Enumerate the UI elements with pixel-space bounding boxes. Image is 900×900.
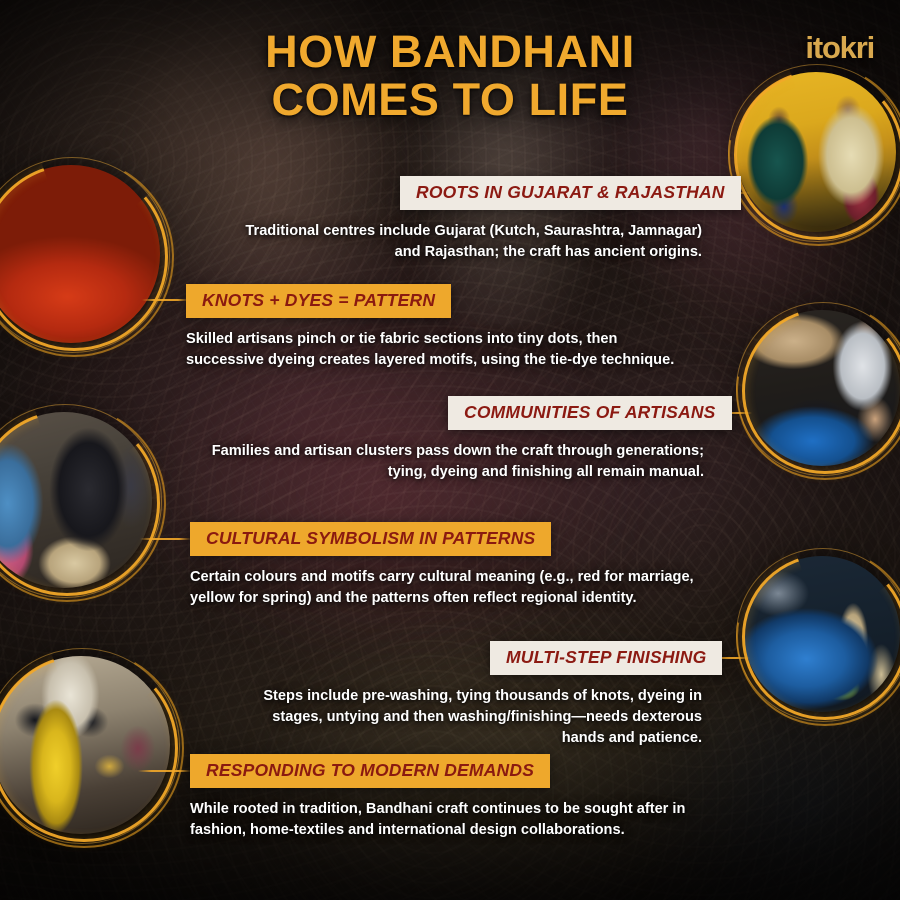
connector-line-6 xyxy=(138,770,192,772)
photo-women-tying-yellow-image xyxy=(736,72,896,232)
section-modern-demands-body: While rooted in tradition, Bandhani craf… xyxy=(190,799,690,841)
section-multi-step-finishing: MULTI-STEP FINISHING Steps include pre-w… xyxy=(490,641,702,749)
section-knots-dyes-heading: KNOTS + DYES = PATTERN xyxy=(186,284,451,318)
section-communities-heading: COMMUNITIES OF ARTISANS xyxy=(448,396,732,430)
connector-line-4 xyxy=(140,538,192,540)
section-roots-heading: ROOTS IN GUJARAT & RAJASTHAN xyxy=(400,176,741,210)
photo-women-tying-yellow xyxy=(736,72,896,232)
photo-dyer-blue-tub-image xyxy=(744,310,900,466)
infographic-poster: HOW BANDHANI COMES TO LIFE itokri xyxy=(0,0,900,900)
section-communities: COMMUNITIES OF ARTISANS Families and art… xyxy=(448,396,704,483)
section-multi-step-finishing-heading: MULTI-STEP FINISHING xyxy=(490,641,722,675)
photo-man-yellow-dye-image xyxy=(0,656,170,834)
photo-tying-hands xyxy=(0,165,160,343)
section-roots-body: Traditional centres include Gujarat (Kut… xyxy=(242,221,702,263)
section-cultural-symbolism: CULTURAL SYMBOLISM IN PATTERNS Certain c… xyxy=(190,522,700,609)
photo-women-artisans xyxy=(0,412,152,588)
section-modern-demands-heading: RESPONDING TO MODERN DEMANDS xyxy=(190,754,550,788)
section-knots-dyes: KNOTS + DYES = PATTERN Skilled artisans … xyxy=(186,284,686,371)
photo-women-artisans-image xyxy=(0,412,152,588)
photo-man-yellow-dye xyxy=(0,656,170,834)
section-roots: ROOTS IN GUJARAT & RAJASTHAN Traditional… xyxy=(400,176,702,263)
section-communities-body: Families and artisan clusters pass down … xyxy=(196,441,704,483)
section-cultural-symbolism-heading: CULTURAL SYMBOLISM IN PATTERNS xyxy=(190,522,551,556)
section-multi-step-finishing-body: Steps include pre-washing, tying thousan… xyxy=(258,686,702,749)
photo-indigo-vat xyxy=(744,556,900,712)
brand-logo[interactable]: itokri xyxy=(805,30,874,66)
photo-indigo-vat-image xyxy=(744,556,900,712)
connector-line-2 xyxy=(142,299,190,301)
photo-tying-hands-image xyxy=(0,165,160,343)
section-modern-demands: RESPONDING TO MODERN DEMANDS While roote… xyxy=(190,754,690,841)
section-knots-dyes-body: Skilled artisans pinch or tie fabric sec… xyxy=(186,329,686,371)
section-cultural-symbolism-body: Certain colours and motifs carry cultura… xyxy=(190,567,700,609)
photo-dyer-blue-tub xyxy=(744,310,900,466)
